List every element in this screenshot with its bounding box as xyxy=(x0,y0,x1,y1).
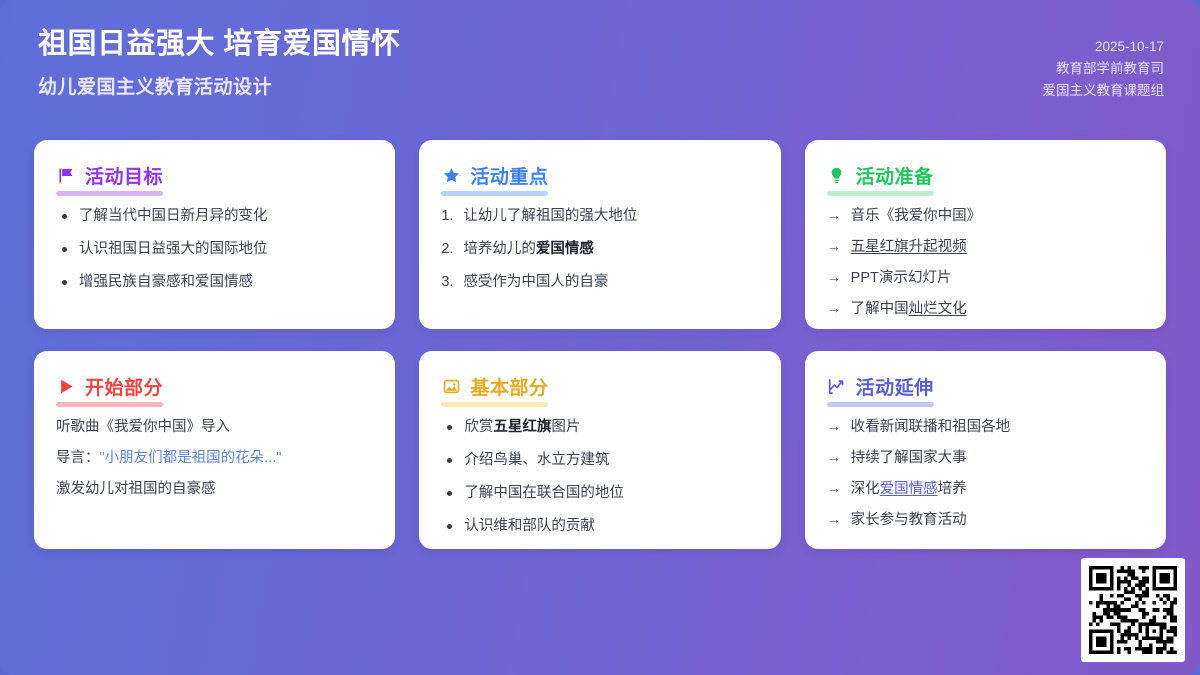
list-item: 了解中国灿烂文化 xyxy=(827,299,1144,320)
list-item: 音乐《我爱你中国》 xyxy=(827,206,1144,227)
text-segment: 了解当代中国日新月异的变化 xyxy=(79,208,268,224)
card-header-main-part: 基本部分 xyxy=(441,373,548,400)
text-line: 导言："小朋友们都是祖国的花朵..." xyxy=(56,448,373,469)
qr-code-container xyxy=(1081,558,1185,662)
card-opening: 开始部分听歌曲《我爱你中国》导入导言："小朋友们都是祖国的花朵..."激发幼儿对… xyxy=(34,351,395,549)
page-subtitle: 幼儿爱国主义教育活动设计 xyxy=(38,72,401,99)
slide-root: 祖国日益强大 培育爱国情怀 幼儿爱国主义教育活动设计 2025-10-17 教育… xyxy=(0,0,1200,675)
text-segment: 认识维和部队的贡献 xyxy=(464,518,595,534)
text-segment: 五星红旗升起视频 xyxy=(851,239,967,255)
text-segment: 激发幼儿对祖国的自豪感 xyxy=(56,481,216,497)
card-grid: 活动目标了解当代中国日新月异的变化认识祖国日益强大的国际地位增强民族自豪感和爱国… xyxy=(34,140,1166,549)
text-segment: 爱国情感 xyxy=(536,241,594,257)
card-body-extension: 收看新闻联播和祖国各地持续了解国家大事深化爱国情感培养家长参与教育活动 xyxy=(827,417,1144,531)
list-item: 培养幼儿的爱国情感 xyxy=(441,239,758,260)
text-segment: 深化 xyxy=(851,481,880,497)
list-item: PPT演示幻灯片 xyxy=(827,268,1144,289)
text-segment: 了解中国在联合国的地位 xyxy=(464,485,624,501)
image-icon xyxy=(441,377,461,397)
list-item: 认识祖国日益强大的国际地位 xyxy=(56,239,373,260)
text-segment: 欣赏 xyxy=(464,419,493,435)
title-underline xyxy=(827,402,934,407)
card-header-preparation: 活动准备 xyxy=(827,162,934,189)
text-segment: 灿烂文化 xyxy=(909,301,967,317)
list-item: 认识维和部队的贡献 xyxy=(441,516,758,537)
list-item: 增强民族自豪感和爱国情感 xyxy=(56,272,373,293)
card-extension: 活动延伸收看新闻联播和祖国各地持续了解国家大事深化爱国情感培养家长参与教育活动 xyxy=(805,351,1166,549)
title-underline xyxy=(56,191,163,196)
list-item: 感受作为中国人的自豪 xyxy=(441,272,758,293)
list-item: 让幼儿了解祖国的强大地位 xyxy=(441,206,758,227)
card-preparation: 活动准备音乐《我爱你中国》五星红旗升起视频PPT演示幻灯片了解中国灿烂文化 xyxy=(805,140,1166,329)
text-line: 听歌曲《我爱你中国》导入 xyxy=(56,417,373,438)
card-title-goals: 活动目标 xyxy=(85,162,163,189)
card-body-main-part: 欣赏五星红旗图片介绍鸟巢、水立方建筑了解中国在联合国的地位认识维和部队的贡献 xyxy=(441,417,758,537)
text-line: 激发幼儿对祖国的自豪感 xyxy=(56,479,373,500)
card-focus: 活动重点让幼儿了解祖国的强大地位培养幼儿的爱国情感感受作为中国人的自豪 xyxy=(419,140,780,329)
list-item: 五星红旗升起视频 xyxy=(827,237,1144,258)
card-title-focus: 活动重点 xyxy=(470,162,548,189)
star-icon xyxy=(441,166,461,186)
page-title: 祖国日益强大 培育爱国情怀 xyxy=(38,26,401,62)
list-item: 了解当代中国日新月异的变化 xyxy=(56,206,373,227)
text-segment: 图片 xyxy=(551,419,580,435)
flag-icon xyxy=(56,166,76,186)
text-segment: 听歌曲《我爱你中国》导入 xyxy=(56,419,230,435)
card-main-part: 基本部分欣赏五星红旗图片介绍鸟巢、水立方建筑了解中国在联合国的地位认识维和部队的… xyxy=(419,351,780,549)
card-header-extension: 活动延伸 xyxy=(827,373,934,400)
list-item: 持续了解国家大事 xyxy=(827,448,1144,469)
card-body-preparation: 音乐《我爱你中国》五星红旗升起视频PPT演示幻灯片了解中国灿烂文化 xyxy=(827,206,1144,320)
card-header-focus: 活动重点 xyxy=(441,162,548,189)
text-segment: 认识祖国日益强大的国际地位 xyxy=(79,241,268,257)
text-segment: PPT演示幻灯片 xyxy=(851,270,952,286)
chart-line-icon xyxy=(827,377,847,397)
play-icon xyxy=(56,377,76,397)
text-segment: 介绍鸟巢、水立方建筑 xyxy=(464,452,609,468)
text-segment: 收看新闻联播和祖国各地 xyxy=(851,419,1011,435)
card-goals: 活动目标了解当代中国日新月异的变化认识祖国日益强大的国际地位增强民族自豪感和爱国… xyxy=(34,140,395,329)
text-segment: 让幼儿了解祖国的强大地位 xyxy=(463,208,637,224)
meta-group: 爱国主义教育课题组 xyxy=(1043,80,1165,102)
text-segment: 了解中国 xyxy=(851,301,909,317)
card-header-opening: 开始部分 xyxy=(56,373,163,400)
card-title-extension: 活动延伸 xyxy=(856,373,934,400)
title-underline xyxy=(827,191,934,196)
title-block: 祖国日益强大 培育爱国情怀 幼儿爱国主义教育活动设计 xyxy=(36,26,401,99)
list-item: 介绍鸟巢、水立方建筑 xyxy=(441,450,758,471)
bulb-icon xyxy=(827,166,847,186)
list-item: 欣赏五星红旗图片 xyxy=(441,417,758,438)
card-body-goals: 了解当代中国日新月异的变化认识祖国日益强大的国际地位增强民族自豪感和爱国情感 xyxy=(56,206,373,293)
list-item: 家长参与教育活动 xyxy=(827,510,1144,531)
card-title-main-part: 基本部分 xyxy=(470,373,548,400)
text-segment: 增强民族自豪感和爱国情感 xyxy=(79,274,253,290)
meta-date: 2025-10-17 xyxy=(1043,36,1165,58)
slide-header: 祖国日益强大 培育爱国情怀 幼儿爱国主义教育活动设计 2025-10-17 教育… xyxy=(0,0,1200,102)
card-body-opening: 听歌曲《我爱你中国》导入导言："小朋友们都是祖国的花朵..."激发幼儿对祖国的自… xyxy=(56,417,373,500)
list-item: 了解中国在联合国的地位 xyxy=(441,483,758,504)
header-meta: 2025-10-17 教育部学前教育司 爱国主义教育课题组 xyxy=(1043,26,1165,102)
list-item: 深化爱国情感培养 xyxy=(827,479,1144,500)
title-underline xyxy=(441,191,548,196)
card-title-opening: 开始部分 xyxy=(85,373,163,400)
text-segment: 培养幼儿的 xyxy=(463,241,536,257)
meta-org: 教育部学前教育司 xyxy=(1043,58,1165,80)
text-segment: 导言： xyxy=(56,450,100,466)
card-header-goals: 活动目标 xyxy=(56,162,163,189)
card-title-preparation: 活动准备 xyxy=(856,162,934,189)
title-underline xyxy=(56,402,163,407)
list-item: 收看新闻联播和祖国各地 xyxy=(827,417,1144,438)
text-segment[interactable]: 爱国情感 xyxy=(880,481,938,497)
text-segment: 音乐《我爱你中国》 xyxy=(851,208,982,224)
title-underline xyxy=(441,402,548,407)
text-segment: 五星红旗 xyxy=(493,419,551,435)
text-segment: 家长参与教育活动 xyxy=(851,512,967,528)
text-segment: 持续了解国家大事 xyxy=(851,450,967,466)
text-segment: 培养 xyxy=(938,481,967,497)
text-segment: 感受作为中国人的自豪 xyxy=(463,274,608,290)
qr-code xyxy=(1089,566,1177,654)
text-segment: "小朋友们都是祖国的花朵..." xyxy=(100,450,282,466)
card-body-focus: 让幼儿了解祖国的强大地位培养幼儿的爱国情感感受作为中国人的自豪 xyxy=(441,206,758,293)
